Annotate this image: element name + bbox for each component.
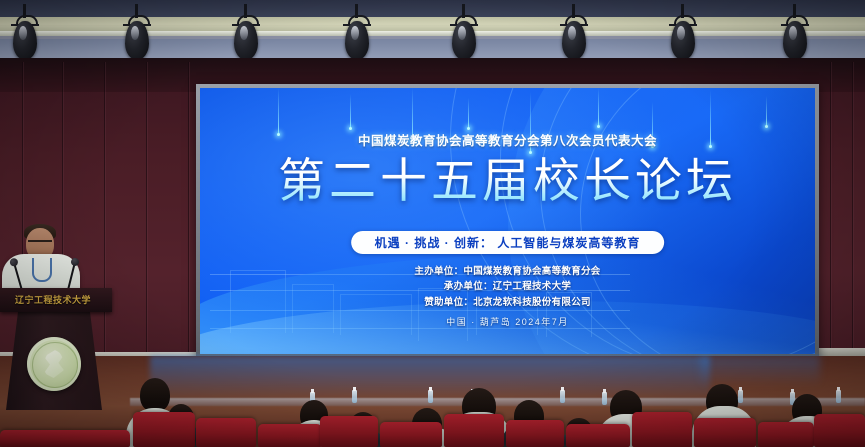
water-bottle [428, 390, 433, 403]
screen-organizer-line: 赞助单位：北京龙软科技股份有限公司 [200, 295, 815, 310]
table-row [320, 416, 378, 447]
streak-dot [529, 151, 532, 154]
table-row [196, 418, 256, 447]
screen-theme-pill: 机遇 · 挑战 · 创新： 人工智能与煤炭高等教育 [351, 231, 665, 254]
stage-spotlight [780, 4, 810, 60]
stage-spotlight [559, 4, 589, 60]
table-row [758, 422, 814, 447]
screen-top-line: 中国煤炭教育协会高等教育分会第八次会员代表大会 [200, 130, 815, 149]
stage-spotlight [449, 4, 479, 60]
water-bottle [836, 390, 841, 403]
table-row [694, 418, 756, 447]
table-row [0, 430, 130, 447]
screen-organizer-line: 主办单位：中国煤炭教育协会高等教育分会 [200, 264, 815, 279]
podium-nameplate: 辽宁工程技术大学 [0, 293, 106, 306]
stage-spotlight [122, 4, 152, 60]
table-row [566, 424, 630, 447]
led-screen: 中国煤炭教育协会高等教育分会第八次会员代表大会 第二十五届校长论坛 机遇 · 挑… [200, 88, 815, 354]
streak-dot [765, 125, 768, 128]
table-row [814, 414, 865, 447]
speaker-glasses [28, 240, 52, 248]
wall-panel-seam [146, 62, 147, 362]
screen-light-streak [278, 88, 279, 134]
university-emblem [27, 337, 81, 391]
table-row [444, 414, 504, 447]
stage-spotlight [668, 4, 698, 60]
streak-dot [597, 125, 600, 128]
table-row [506, 420, 564, 447]
stage-spotlight [342, 4, 372, 60]
wall-panel-seam [830, 62, 831, 362]
stage-spotlight [231, 4, 261, 60]
front-table-edge [130, 398, 865, 406]
wall-panel-seam [104, 62, 105, 362]
table-row [632, 412, 692, 447]
water-bottle [352, 390, 357, 403]
wall-panel-seam [188, 62, 189, 362]
speaker-lanyard [32, 258, 52, 282]
screen-light-streak [598, 88, 599, 126]
screen-light-streak [350, 94, 351, 128]
stage-spotlight [10, 4, 40, 60]
auditorium-photo: 中国煤炭教育协会高等教育分会第八次会员代表大会 第二十五届校长论坛 机遇 · 挑… [0, 0, 865, 447]
screen-date-line: 中国 · 葫芦岛 2024年7月 [200, 315, 815, 328]
water-bottle [560, 390, 565, 403]
audience-head [140, 378, 170, 412]
screen-light-streak [766, 96, 767, 126]
water-bottle [738, 390, 743, 403]
floor-screen-reflection-right [700, 356, 820, 386]
table-row [133, 412, 195, 447]
table-row [380, 422, 442, 447]
led-screen-frame: 中国煤炭教育协会高等教育分会第八次会员代表大会 第二十五届校长论坛 机遇 · 挑… [196, 84, 819, 358]
table-row [258, 424, 322, 447]
water-bottle [602, 392, 607, 405]
screen-main-title: 第二十五届校长论坛 [200, 156, 815, 209]
screen-organizer-line: 承办单位：辽宁工程技术大学 [200, 279, 815, 294]
wall-panel-seam [852, 62, 853, 362]
screen-light-streak [468, 98, 469, 128]
screen-organizer-lines: 主办单位：中国煤炭教育协会高等教育分会承办单位：辽宁工程技术大学赞助单位：北京龙… [200, 264, 815, 310]
